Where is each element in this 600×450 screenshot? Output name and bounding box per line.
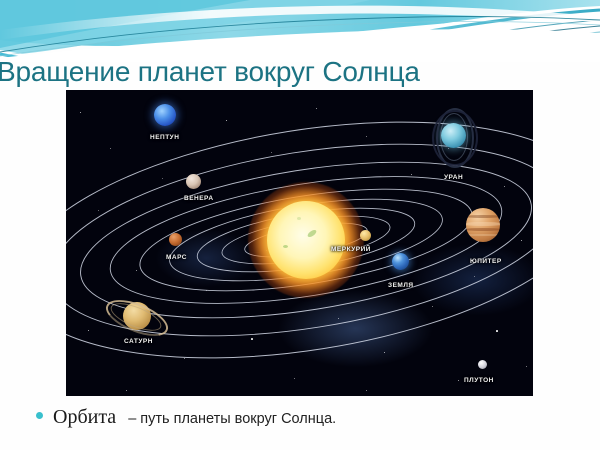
planet-label-mercury: МЕРКУРИЙ [331,246,371,253]
header-ribbon-decoration [0,0,600,62]
planet-venus [186,174,201,189]
sun [248,182,364,298]
planet-label-saturn: САТУРН [124,338,153,345]
planet-pluto [478,360,487,369]
planet-uranus [430,108,476,164]
planet-saturn [104,290,166,342]
planet-label-jupiter: ЮПИТЕР [470,258,502,265]
planet-label-pluto: ПЛУТОН [464,377,494,384]
planet-label-uranus: УРАН [444,174,463,181]
bullet-point-icon [36,412,43,419]
slide-canvas: Вращение планет вокруг Солнца [0,0,600,450]
planet-label-neptune: НЕПТУН [150,134,179,141]
planet-label-venus: ВЕНЕРА [184,195,214,202]
planet-mercury [360,230,371,241]
solar-system-image: НЕПТУН ВЕНЕРА МАРС САТУРН МЕРКУРИЙ ЗЕМЛЯ [66,90,533,396]
planet-neptune [154,104,176,126]
planet-label-earth: ЗЕМЛЯ [388,282,414,289]
planet-label-mars: МАРС [166,254,187,261]
definition-term: Орбита [53,406,116,429]
planet-earth [392,253,409,270]
planet-jupiter [466,208,500,242]
definition-bullet-item: Орбита – путь планеты вокруг Солнца. [36,406,336,429]
page-title: Вращение планет вокруг Солнца [0,55,420,89]
planet-mars [169,233,182,246]
definition-description: – путь планеты вокруг Солнца. [128,411,336,427]
